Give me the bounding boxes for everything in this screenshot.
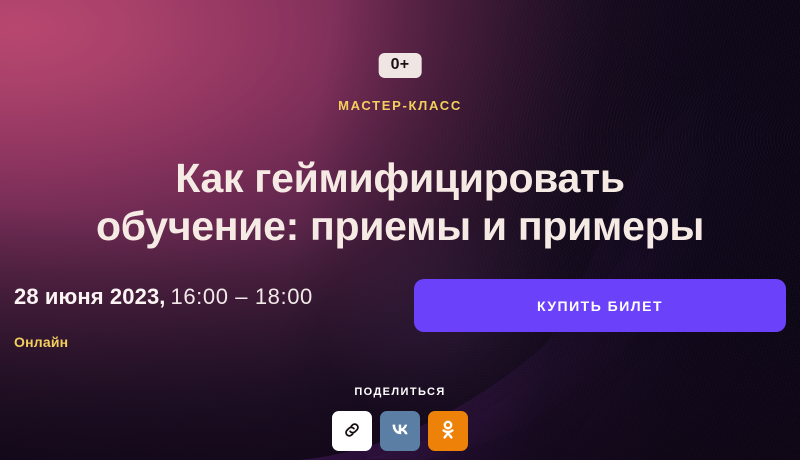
- page-title-line-2: обучение: приемы и примеры: [60, 203, 740, 251]
- share-odnoklassniki-button[interactable]: [428, 411, 468, 451]
- event-date: 28 июня 2023,: [14, 284, 166, 309]
- ok-icon: [437, 419, 459, 444]
- share-vk-button[interactable]: [380, 411, 420, 451]
- buy-ticket-button[interactable]: КУПИТЬ БИЛЕТ: [414, 279, 786, 332]
- event-type-kicker: МАСТЕР-КЛАСС: [0, 98, 800, 113]
- share-section-label: ПОДЕЛИТЬСЯ: [0, 386, 800, 398]
- link-icon: [342, 420, 362, 443]
- event-datetime: 28 июня 2023,16:00 – 18:00: [14, 286, 313, 308]
- event-hero-banner: 0+ МАСТЕР-КЛАСС Как геймифицировать обуч…: [0, 0, 800, 460]
- page-title: Как геймифицировать обучение: приемы и п…: [0, 155, 800, 250]
- age-rating-badge: 0+: [379, 53, 422, 78]
- event-format-label: Онлайн: [14, 334, 68, 350]
- share-copy-link-button[interactable]: [332, 411, 372, 451]
- hero-content: 0+ МАСТЕР-КЛАСС Как геймифицировать обуч…: [0, 0, 800, 460]
- vk-icon: [388, 418, 412, 445]
- share-buttons-row: [332, 411, 468, 451]
- event-time: 16:00 – 18:00: [171, 284, 313, 309]
- page-title-line-1: Как геймифицировать: [60, 155, 740, 203]
